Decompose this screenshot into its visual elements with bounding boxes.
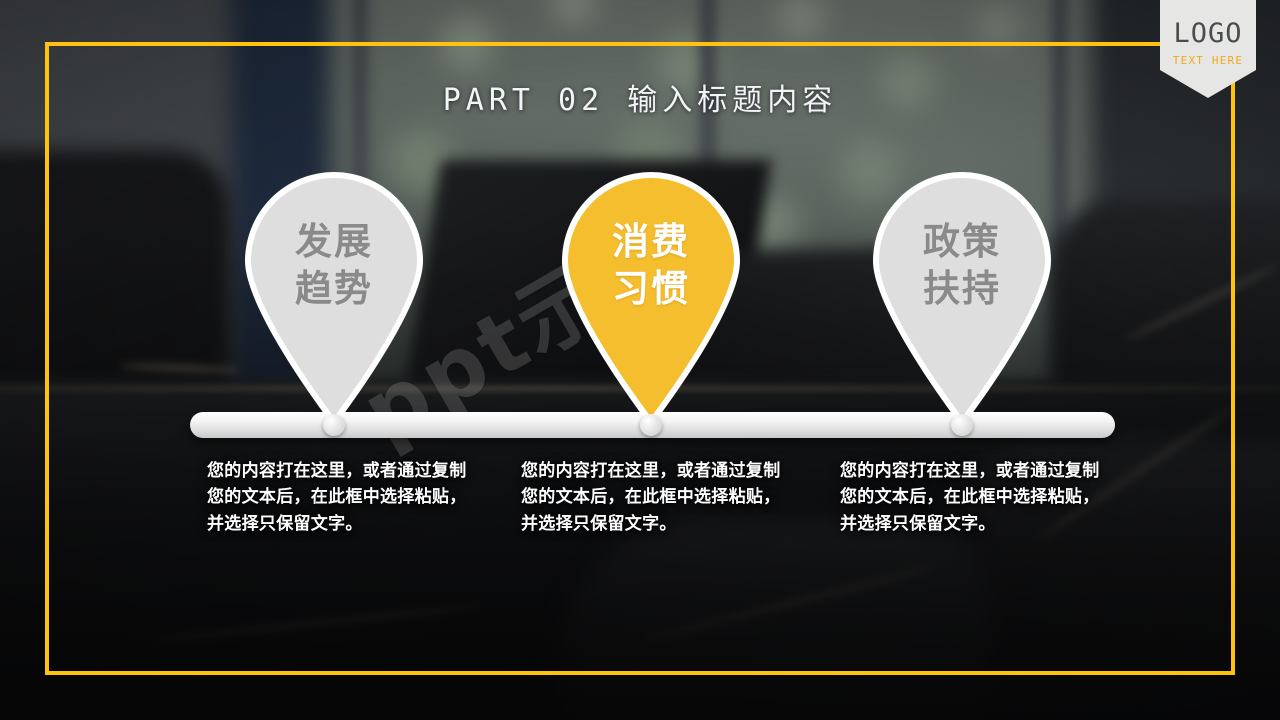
description-1: 您的内容打在这里，或者通过复制您的文本后，在此框中选择粘贴，并选择只保留文字。	[207, 458, 469, 537]
slide-canvas: LOGO TEXT HERE PART 02 输入标题内容 ppt示例 发展 趋…	[0, 0, 1280, 720]
pin-label-line1: 政策	[923, 220, 1001, 263]
pin-node-1	[323, 414, 345, 436]
description-3: 您的内容打在这里，或者通过复制您的文本后，在此框中选择粘贴，并选择只保留文字。	[840, 458, 1102, 537]
pin-marker-1[interactable]: 发展 趋势	[245, 172, 423, 427]
pin-node-2	[640, 414, 662, 436]
pin-label-line2: 习惯	[612, 267, 690, 310]
pin-marker-3[interactable]: 政策 扶持	[873, 172, 1051, 427]
pin-label-2: 消费 习惯	[562, 218, 740, 313]
description-2: 您的内容打在这里，或者通过复制您的文本后，在此框中选择粘贴，并选择只保留文字。	[521, 458, 783, 537]
pin-label-3: 政策 扶持	[873, 218, 1051, 313]
pin-label-line1: 发展	[295, 220, 373, 263]
pin-label-line2: 扶持	[923, 267, 1001, 310]
pin-label-line2: 趋势	[295, 267, 373, 310]
pin-group: 发展 趋势 消费 习惯 政策 扶持	[0, 0, 1280, 720]
pin-label-line1: 消费	[612, 220, 690, 263]
pin-marker-2[interactable]: 消费 习惯	[562, 172, 740, 427]
pin-label-1: 发展 趋势	[245, 218, 423, 313]
pin-node-3	[951, 414, 973, 436]
